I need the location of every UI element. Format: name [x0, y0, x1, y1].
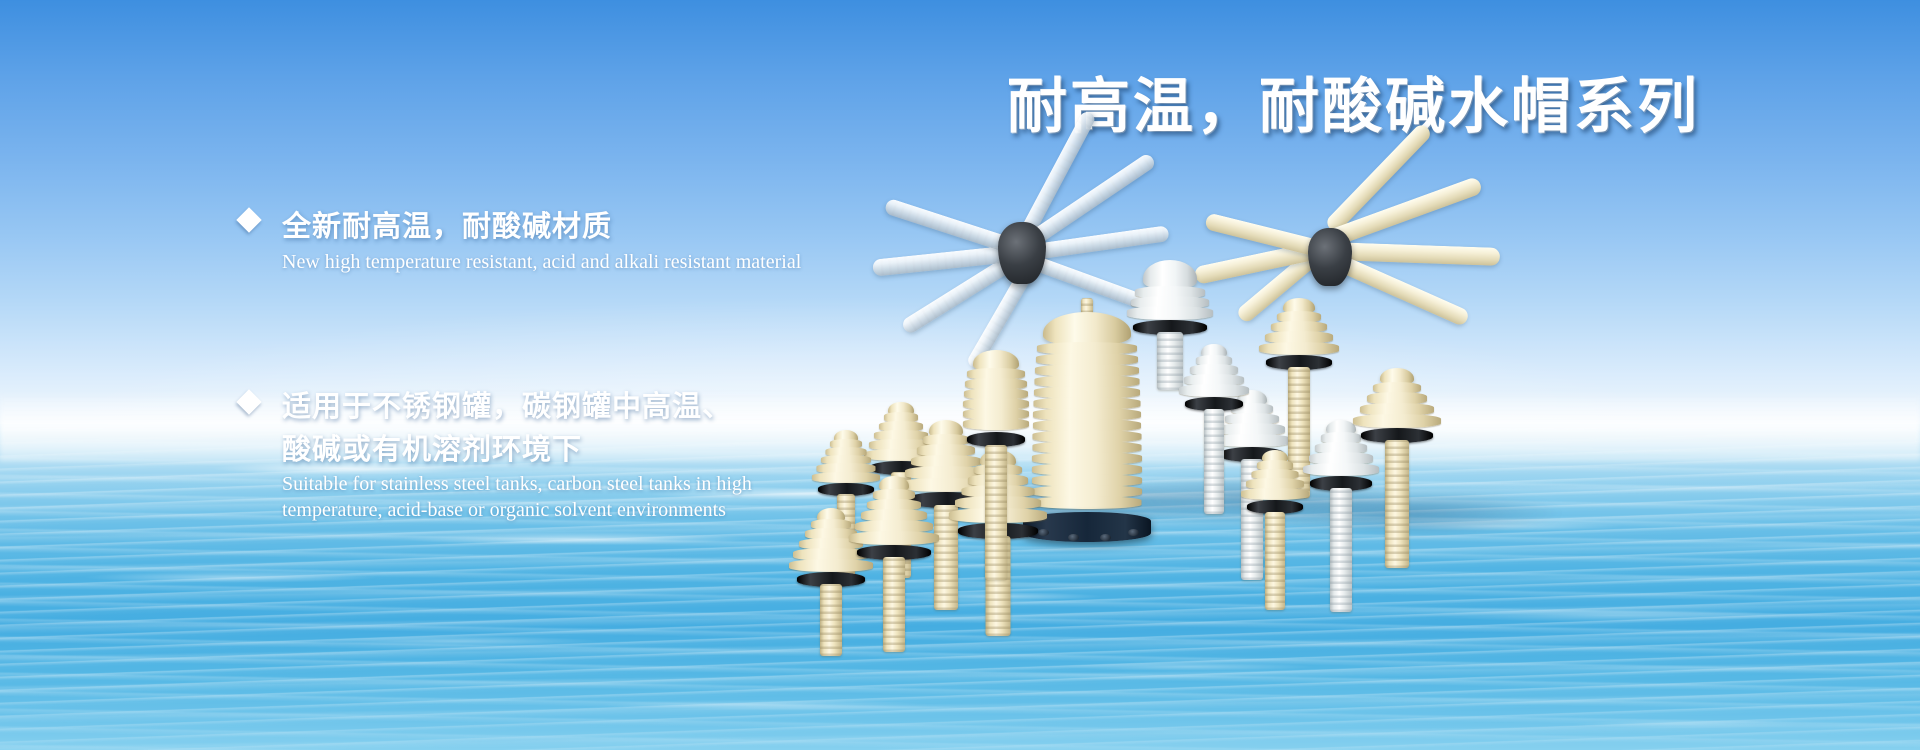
water-cap-filter-nozzle-cluster — [840, 120, 1920, 650]
product-banner: 耐高温，耐酸碱水帽系列 全新耐高温，耐酸碱材质 New high tempera… — [0, 0, 1920, 750]
bullet-2-cn-line-1: 适用于不锈钢罐，碳钢罐中高温、 — [282, 385, 752, 428]
ribbed-column-cap — [960, 350, 1032, 580]
bullet-1-en-line-1: New high temperature resistant, acid and… — [282, 248, 801, 275]
bullet-item-2: 适用于不锈钢罐，碳钢罐中高温、 酸碱或有机溶剂环境下 Suitable for … — [282, 385, 752, 523]
bullet-1-cn-line-1: 全新耐高温，耐酸碱材质 — [282, 205, 801, 248]
bullet-2-en-line-2: temperature, acid-base or organic solven… — [282, 497, 752, 523]
diamond-marker-icon — [236, 389, 261, 414]
bullet-2-cn-line-2: 酸碱或有机溶剂环境下 — [282, 428, 752, 471]
diamond-marker-icon — [236, 207, 261, 232]
bullet-item-1: 全新耐高温，耐酸碱材质 New high temperature resista… — [282, 205, 801, 275]
bullet-2-en-line-1: Suitable for stainless steel tanks, carb… — [282, 471, 752, 497]
dome-water-cap-right-4 — [1352, 368, 1442, 568]
dome-water-cap-right-6 — [1240, 450, 1310, 610]
bell-water-cap-4 — [848, 476, 940, 652]
